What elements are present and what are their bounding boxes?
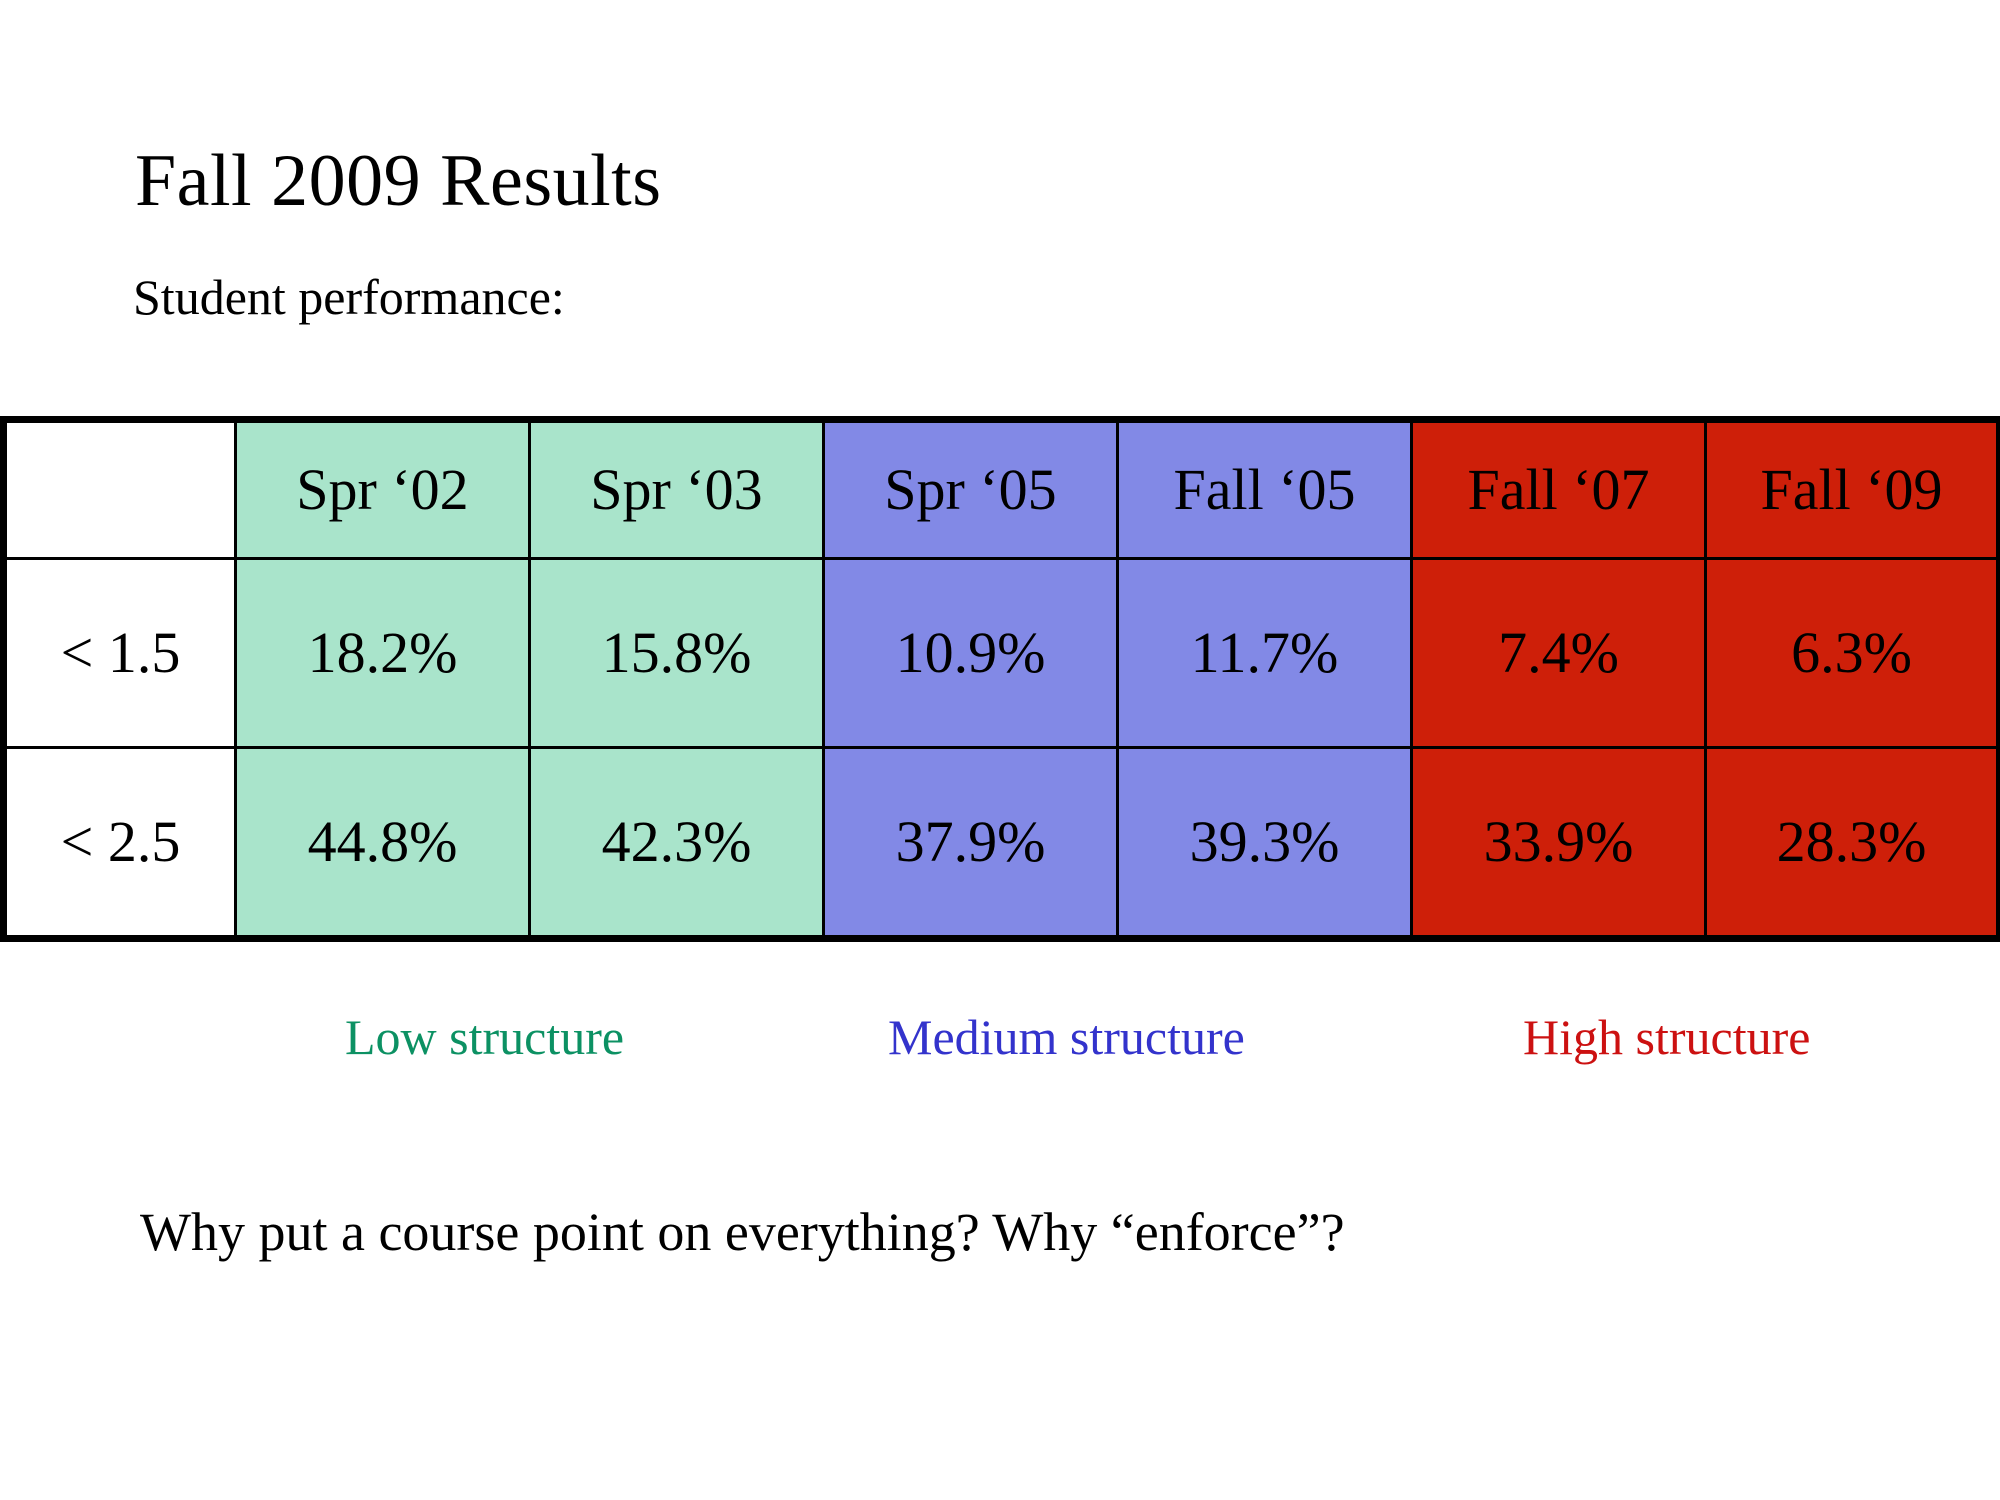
cell-lt1.5-fall07: 7.4% xyxy=(1412,559,1706,748)
row-label-lt-1-5: < 1.5 xyxy=(4,559,236,748)
cell-lt2.5-spr03: 42.3% xyxy=(530,748,824,939)
page-title: Fall 2009 Results xyxy=(135,144,662,218)
table-row: < 1.5 18.2% 15.8% 10.9% 11.7% 7.4% 6.3% xyxy=(4,559,2000,748)
cell-lt2.5-fall07: 33.9% xyxy=(1412,748,1706,939)
column-header-spr-02: Spr ‘02 xyxy=(236,420,530,559)
table-header-row: Spr ‘02 Spr ‘03 Spr ‘05 Fall ‘05 Fall ‘0… xyxy=(4,420,2000,559)
legend-item-medium-structure: Medium structure xyxy=(888,1012,1245,1062)
footer-question-text: Why put a course point on everything? Wh… xyxy=(140,1205,1345,1259)
cell-lt1.5-spr03: 15.8% xyxy=(530,559,824,748)
performance-table: Spr ‘02 Spr ‘03 Spr ‘05 Fall ‘05 Fall ‘0… xyxy=(0,416,2000,942)
cell-lt1.5-fall05: 11.7% xyxy=(1118,559,1412,748)
cell-lt2.5-spr02: 44.8% xyxy=(236,748,530,939)
cell-lt1.5-spr05: 10.9% xyxy=(824,559,1118,748)
subtitle-student-performance: Student performance: xyxy=(133,272,565,322)
cell-lt2.5-fall05: 39.3% xyxy=(1118,748,1412,939)
legend-item-low-structure: Low structure xyxy=(345,1012,624,1062)
column-header-spr-03: Spr ‘03 xyxy=(530,420,824,559)
row-label-lt-2-5: < 2.5 xyxy=(4,748,236,939)
slide-root: Fall 2009 Results Student performance: S… xyxy=(0,0,2000,1500)
cell-lt1.5-spr02: 18.2% xyxy=(236,559,530,748)
column-header-fall-05: Fall ‘05 xyxy=(1118,420,1412,559)
table-corner-cell xyxy=(4,420,236,559)
column-header-fall-07: Fall ‘07 xyxy=(1412,420,1706,559)
cell-lt2.5-spr05: 37.9% xyxy=(824,748,1118,939)
cell-lt1.5-fall09: 6.3% xyxy=(1706,559,2000,748)
cell-lt2.5-fall09: 28.3% xyxy=(1706,748,2000,939)
legend-item-high-structure: High structure xyxy=(1523,1012,1810,1062)
performance-table-wrapper: Spr ‘02 Spr ‘03 Spr ‘05 Fall ‘05 Fall ‘0… xyxy=(0,416,1996,942)
structure-legend: Low structure Medium structure High stru… xyxy=(0,1012,2000,1082)
table-row: < 2.5 44.8% 42.3% 37.9% 39.3% 33.9% 28.3… xyxy=(4,748,2000,939)
column-header-fall-09: Fall ‘09 xyxy=(1706,420,2000,559)
column-header-spr-05: Spr ‘05 xyxy=(824,420,1118,559)
